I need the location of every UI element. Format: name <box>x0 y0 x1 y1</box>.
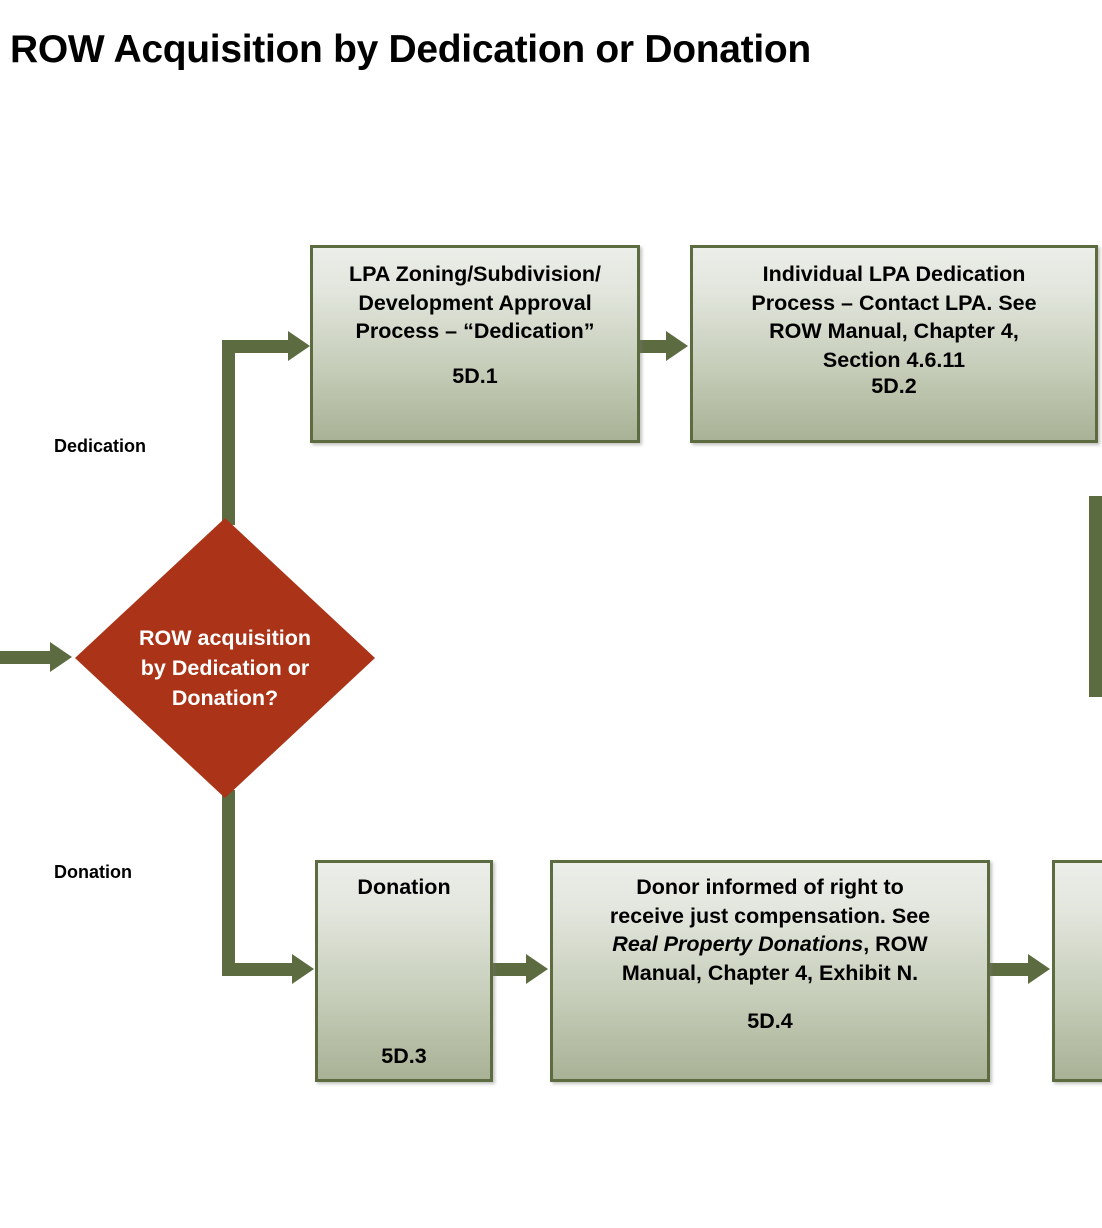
box-5d4-line-3-rest: , ROW <box>863 932 928 956</box>
connector-right-edge-vertical <box>1089 496 1102 697</box>
connector-input-arrowhead <box>50 642 72 672</box>
box-5d1-line-1: LPA Zoning/Subdivision/ <box>313 260 637 289</box>
process-box-5d2-text: Individual LPA Dedication Process – Cont… <box>687 260 1101 374</box>
box-5d2-line-1: Individual LPA Dedication <box>693 260 1095 289</box>
process-box-5d4[interactable]: Donor informed of right to receive just … <box>550 860 990 1082</box>
decision-label: ROW acquisition by Dedication or Donatio… <box>117 624 333 713</box>
decision-line-2: by Dedication or <box>117 654 333 684</box>
process-box-5d2[interactable]: Individual LPA Dedication Process – Cont… <box>690 245 1098 443</box>
box-5d2-line-2: Process – Contact LPA. See <box>693 289 1095 318</box>
connector-input-line <box>0 651 52 664</box>
decision-node-row-acquisition[interactable]: ROW acquisition by Dedication or Donatio… <box>75 518 375 798</box>
connector-donation-horizontal <box>222 963 298 976</box>
process-box-5d1-text: LPA Zoning/Subdivision/ Development Appr… <box>307 260 643 346</box>
process-box-5d4-text: Donor informed of right to receive just … <box>547 873 993 987</box>
process-box-next-clipped[interactable]: Pr <box>1052 860 1102 1082</box>
box-5d2-line-4: Section 4.6.11 <box>693 346 1095 375</box>
connector-5d4-to-next-line <box>990 963 1030 976</box>
connector-dedication-horizontal <box>222 340 294 353</box>
branch-label-dedication: Dedication <box>54 436 146 457</box>
box-5d4-line-3: Real Property Donations, ROW <box>553 930 987 959</box>
box-5d1-line-3: Process – “Dedication” <box>313 317 637 346</box>
process-box-next-text: Pr <box>1049 873 1102 902</box>
box-5d4-line-2: receive just compensation. See <box>553 902 987 931</box>
box-5d1-line-2: Development Approval <box>313 289 637 318</box>
flowchart-canvas: ROW Acquisition by Dedication or Donatio… <box>0 0 1102 1228</box>
connector-5d3-to-5d4-arrowhead <box>526 954 548 984</box>
page-title: ROW Acquisition by Dedication or Donatio… <box>10 28 811 72</box>
connector-dedication-vertical <box>222 340 235 525</box>
box-5d4-line-4: Manual, Chapter 4, Exhibit N. <box>553 959 987 988</box>
process-box-5d3-text: Donation <box>312 873 496 902</box>
decision-line-3: Donation? <box>117 684 333 714</box>
box-next-line-1: Pr <box>1055 873 1102 902</box>
process-box-5d3[interactable]: Donation 5D.3 <box>315 860 493 1082</box>
decision-line-1: ROW acquisition <box>117 624 333 654</box>
process-box-5d4-code: 5D.4 <box>553 1009 987 1034</box>
branch-label-donation: Donation <box>54 862 132 883</box>
connector-5d4-to-next-arrowhead <box>1028 954 1050 984</box>
process-box-5d2-code: 5D.2 <box>693 374 1095 399</box>
box-5d3-line-1: Donation <box>318 873 490 902</box>
process-box-5d1[interactable]: LPA Zoning/Subdivision/ Development Appr… <box>310 245 640 443</box>
connector-5d1-to-5d2-arrowhead <box>666 331 688 361</box>
process-box-5d1-code: 5D.1 <box>313 364 637 389</box>
connector-donation-arrowhead <box>292 954 314 984</box>
box-5d4-line-3-italic: Real Property Donations <box>612 932 863 956</box>
connector-5d3-to-5d4-line <box>493 963 529 976</box>
box-5d2-line-3: ROW Manual, Chapter 4, <box>693 317 1095 346</box>
process-box-5d3-code: 5D.3 <box>318 1044 490 1069</box>
box-5d4-line-1: Donor informed of right to <box>553 873 987 902</box>
connector-donation-vertical <box>222 790 235 976</box>
